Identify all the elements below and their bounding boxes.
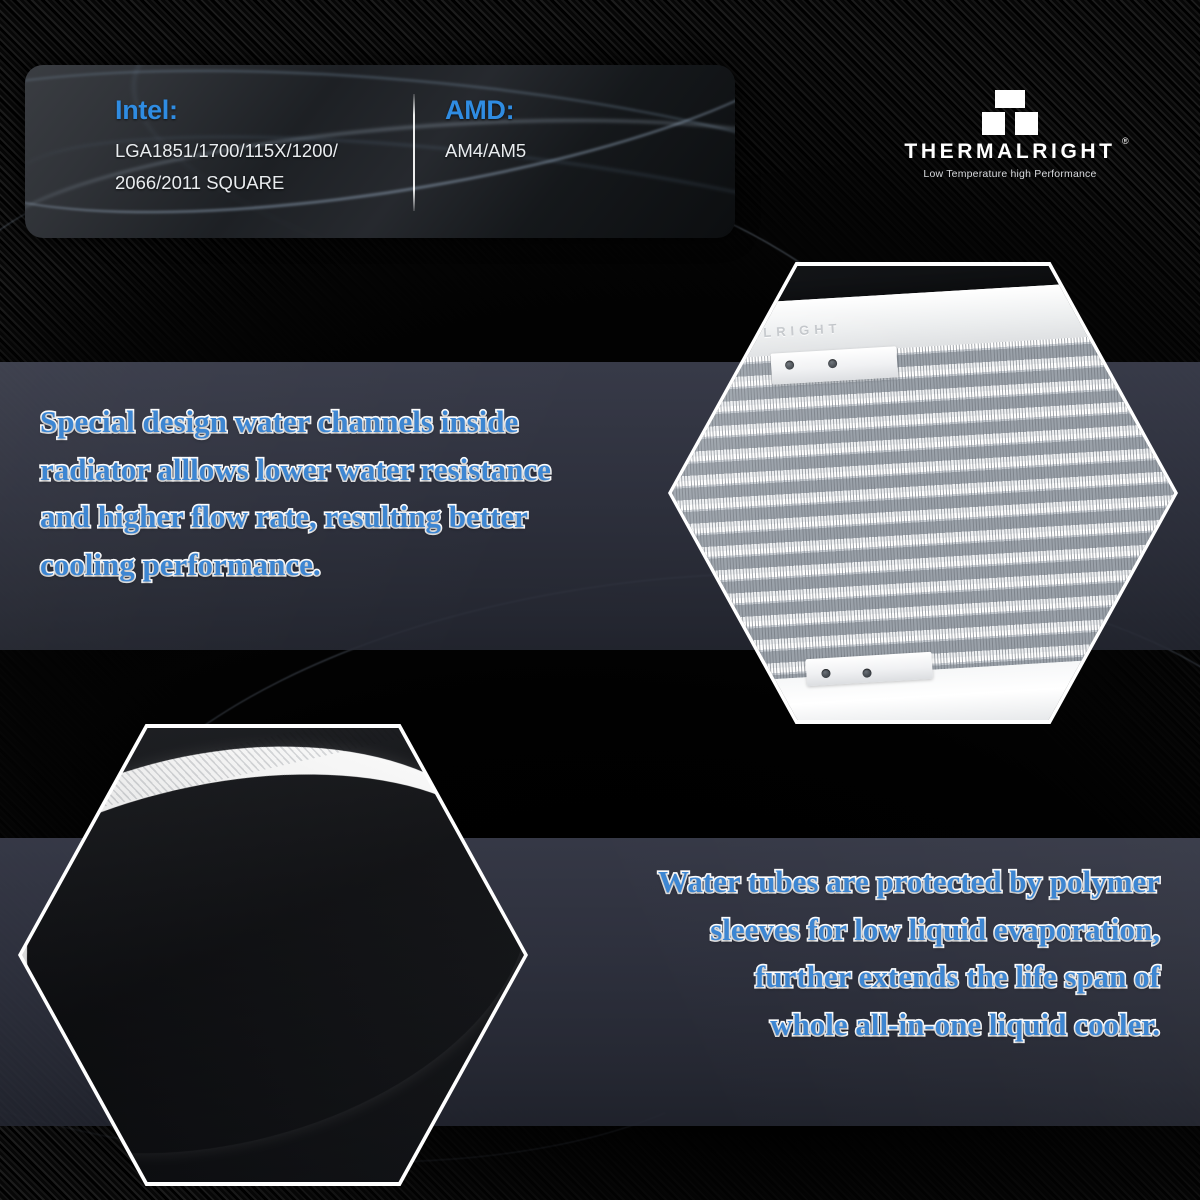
brand-wordmark: THERMALRIGHT® xyxy=(904,141,1115,162)
socket-column-divider xyxy=(413,94,415,211)
registered-trademark-icon: ® xyxy=(1122,137,1129,146)
t-mark-square-right xyxy=(1015,112,1038,135)
tubes-hexagon-photo xyxy=(18,724,528,1186)
feature-text-tubes: Water tubes are protected by polymer sle… xyxy=(548,858,1160,1049)
sleeved-tube-lower xyxy=(22,728,524,1182)
hexagon-image-tubes xyxy=(22,728,524,1182)
socket-compatibility-panel: Intel: LGA1851/1700/115X/1200/ 2066/2011… xyxy=(25,65,735,238)
brand-logo: THERMALRIGHT® Low Temperature high Perfo… xyxy=(880,90,1140,180)
intel-socket-column: Intel: LGA1851/1700/115X/1200/ 2066/2011… xyxy=(115,95,395,199)
t-mark-bar xyxy=(995,90,1025,108)
thermalright-t-mark-icon xyxy=(982,90,1038,135)
radiator-hexagon-photo: THERMALRIGHT xyxy=(668,262,1178,724)
amd-socket-column: AMD: AM4/AM5 xyxy=(445,95,685,167)
intel-socket-list: LGA1851/1700/115X/1200/ 2066/2011 SQUARE xyxy=(115,135,395,199)
brand-tagline: Low Temperature high Performance xyxy=(880,168,1140,180)
amd-heading: AMD: xyxy=(445,95,685,126)
product-feature-panel: Intel: LGA1851/1700/115X/1200/ 2066/2011… xyxy=(0,0,1200,1200)
radiator-body: THERMALRIGHT xyxy=(672,277,1174,720)
amd-socket-list: AM4/AM5 xyxy=(445,135,685,167)
t-mark-square-left xyxy=(982,112,1005,135)
hexagon-image-radiator: THERMALRIGHT xyxy=(672,266,1174,720)
intel-heading: Intel: xyxy=(115,95,395,126)
feature-text-radiator: Special design water channels inside rad… xyxy=(40,398,660,589)
